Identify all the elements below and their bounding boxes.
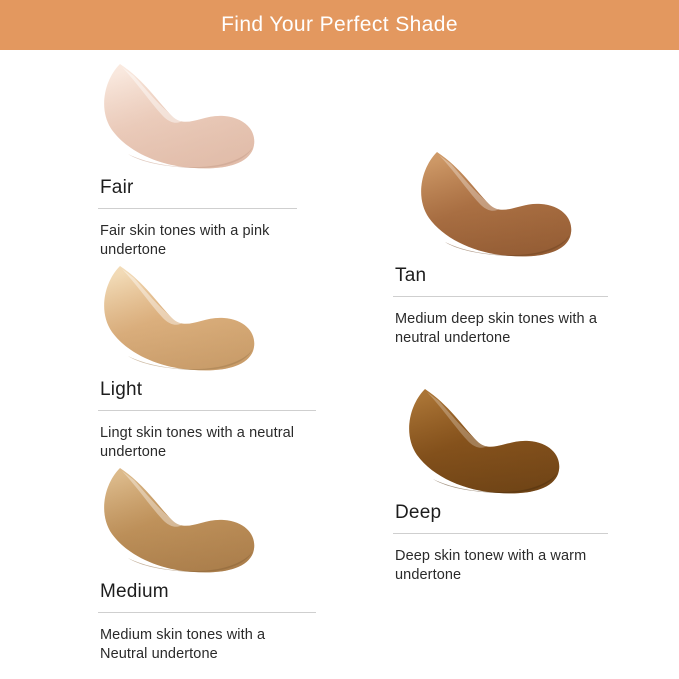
shade-swatch-deep[interactable] bbox=[403, 383, 568, 498]
shade-card-tan[interactable]: Tan Medium deep skin tones with a neutra… bbox=[393, 146, 608, 348]
shade-name-medium: Medium bbox=[100, 581, 316, 603]
page-title: Find Your Perfect Shade bbox=[221, 13, 458, 37]
shade-card-medium[interactable]: Medium Medium skin tones with a Neutral … bbox=[98, 462, 316, 664]
shade-name-fair: Fair bbox=[100, 177, 297, 199]
shade-description-deep: Deep skin tonew with a warm undertone bbox=[395, 547, 608, 585]
foundation-smear-icon bbox=[98, 260, 263, 375]
shade-card-deep[interactable]: Deep Deep skin tonew with a warm underto… bbox=[393, 383, 608, 585]
shade-divider-deep bbox=[393, 533, 608, 534]
shade-description-fair: Fair skin tones with a pink undertone bbox=[100, 222, 297, 260]
shade-divider-fair bbox=[98, 208, 297, 209]
shade-card-light[interactable]: Light Lingt skin tones with a neutral un… bbox=[98, 260, 316, 462]
shade-card-fair[interactable]: Fair Fair skin tones with a pink underto… bbox=[98, 58, 297, 260]
shade-swatch-light[interactable] bbox=[98, 260, 263, 375]
shade-name-tan: Tan bbox=[395, 265, 608, 287]
shade-divider-medium bbox=[98, 612, 316, 613]
foundation-smear-icon bbox=[98, 58, 263, 173]
shade-swatch-medium[interactable] bbox=[98, 462, 263, 577]
shade-name-light: Light bbox=[100, 379, 316, 401]
shade-divider-light bbox=[98, 410, 316, 411]
shade-name-deep: Deep bbox=[395, 502, 608, 524]
page-header-banner: Find Your Perfect Shade bbox=[0, 0, 679, 50]
shade-swatch-tan[interactable] bbox=[415, 146, 580, 261]
shade-description-medium: Medium skin tones with a Neutral underto… bbox=[100, 626, 316, 664]
foundation-smear-icon bbox=[415, 146, 580, 261]
shade-divider-tan bbox=[393, 296, 608, 297]
shade-grid: Fair Fair skin tones with a pink underto… bbox=[0, 50, 679, 679]
foundation-smear-icon bbox=[403, 383, 568, 498]
shade-description-tan: Medium deep skin tones with a neutral un… bbox=[395, 310, 608, 348]
foundation-smear-icon bbox=[98, 462, 263, 577]
shade-swatch-fair[interactable] bbox=[98, 58, 263, 173]
shade-description-light: Lingt skin tones with a neutral underton… bbox=[100, 424, 316, 462]
